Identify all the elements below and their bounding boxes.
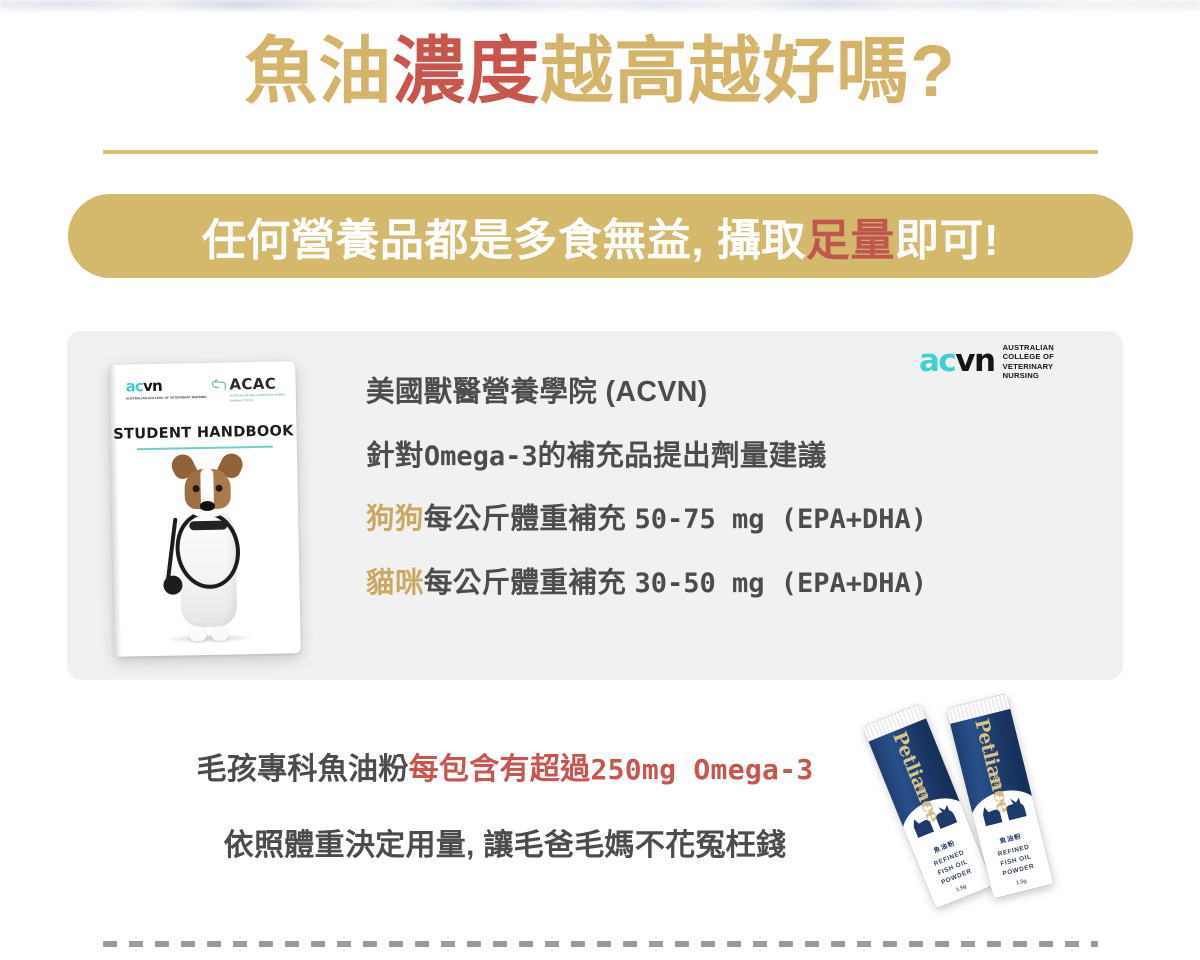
guideline-line-cat-dose: 貓咪每公斤體重補充 30-50 mg (EPA+DHA) (366, 569, 1066, 598)
statement-red-part: 每包含有超過 (409, 753, 591, 786)
book-acac-text: ACAC AUSTRALIAN AND COMPANION ANIMAL CHE… (229, 376, 286, 402)
book-acvn-vn: vn (143, 377, 162, 395)
book-header-logos: acvn AUSTRALIAN COLLEGE OF VETERINARY NU… (125, 376, 286, 413)
acvn-wordmark: acvn (919, 346, 995, 377)
book-acac-subtitle-2: CHENNAI | TOKYO (230, 398, 286, 402)
infographic-page: 魚油濃度越高越好嗎? 任何營養品都是多食無益, 攝取足量即可! acvn AUS… (0, 0, 1200, 960)
acvn-subtitle-line-3: VETERINARY (1003, 362, 1054, 371)
product-statement-line-2: 依照體重決定用量, 讓毛爸毛媽不花冤枉錢 (105, 831, 905, 861)
dog-nose (200, 501, 215, 511)
book-acac-logo: ACAC AUSTRALIAN AND COMPANION ANIMAL CHE… (210, 376, 286, 403)
product-sachets-photo: Petliance 毛孩專科 魚油粉 REFINED FISH OIL POWD… (893, 692, 1098, 907)
book-acvn-wordmark: acvn (125, 378, 206, 395)
guideline-seg-dog-label: 狗狗 (366, 503, 424, 535)
guideline-seg: 每公斤體重補充 (424, 567, 635, 599)
guideline-seg: 針對 (366, 440, 424, 472)
guideline-seg: 的補充品提出劑量建議 (538, 440, 827, 472)
book-title: STUDENT HANDBOOK (110, 423, 296, 443)
banner-part-1: 任何營養品都是多食無益, 攝取 (202, 216, 806, 265)
book-acvn-subtitle: AUSTRALIAN COLLEGE OF VETERINARY NURSING (126, 395, 207, 401)
book-acac-wordmark: ACAC (229, 376, 286, 392)
guideline-seg-cat-label: 貓咪 (366, 567, 424, 599)
statement-dark-part: 毛孩專科魚油粉 (197, 753, 409, 786)
guideline-seg: 美國獸醫營養學院 (ACVN) (366, 376, 708, 408)
dog-with-stethoscope-photo (144, 450, 272, 648)
dog-shadow (165, 633, 253, 644)
acvn-logo: acvn AUSTRALIAN COLLEGE OF VETERINARY NU… (919, 343, 1054, 380)
guideline-seg: 每公斤體重補充 (424, 503, 635, 535)
banner-text: 任何營養品都是多食無益, 攝取足量即可! (202, 204, 999, 268)
acvn-subtitle-line-1: AUSTRALIAN (1003, 343, 1054, 352)
acvn-wordmark-ac: ac (919, 343, 955, 379)
guideline-seg-omega3: Omega-3 (424, 441, 538, 472)
banner-accent: 足量 (806, 216, 895, 265)
highlight-banner: 任何營養品都是多食無益, 攝取足量即可! (68, 194, 1133, 278)
guideline-line-dog-dose: 狗狗每公斤體重補充 50-75 mg (EPA+DHA) (366, 505, 1066, 534)
title-part-2: 越高越好嗎? (540, 31, 956, 112)
student-handbook-cover: acvn AUSTRALIAN COLLEGE OF VETERINARY NU… (109, 361, 301, 657)
guideline-seg-cat-unit: (EPA+DHA) (764, 568, 927, 599)
dog-eye-left (193, 485, 200, 492)
banner-part-2: 即可! (895, 216, 999, 265)
acvn-subtitle: AUSTRALIAN COLLEGE OF VETERINARY NURSING (1003, 343, 1054, 380)
page-title: 魚油濃度越高越好嗎? (0, 32, 1200, 112)
product-statement: 毛孩專科魚油粉每包含有超過250mg Omega-3 依照體重決定用量, 讓毛爸… (105, 755, 905, 861)
guideline-seg-dog-value: 50-75 mg (634, 504, 764, 535)
guideline-line-acvn: 美國獸醫營養學院 (ACVN) (366, 378, 1066, 407)
book-acvn-ac: ac (125, 377, 143, 395)
top-photo-sliver (0, 0, 1200, 13)
acac-dog-icon (210, 378, 227, 397)
gold-divider-rule (103, 150, 1098, 154)
title-accent: 濃度 (392, 31, 540, 112)
title-part-1: 魚油 (244, 31, 392, 112)
bottom-dashed-divider (103, 941, 1098, 947)
dog-paw-left (189, 626, 206, 641)
dog-collar (189, 521, 227, 531)
product-statement-line-1: 毛孩專科魚油粉每包含有超過250mg Omega-3 (105, 755, 905, 785)
acvn-guideline-list: 美國獸醫營養學院 (ACVN) 針對Omega-3的補充品提出劑量建議 狗狗每公… (366, 378, 1066, 597)
acvn-wordmark-vn: vn (955, 343, 994, 379)
guideline-seg-dog-unit: (EPA+DHA) (764, 504, 927, 535)
statement-red-value: 250mg Omega-3 (590, 753, 813, 786)
guideline-seg-cat-value: 30-50 mg (634, 568, 764, 599)
dog-paw-right (211, 626, 228, 641)
book-acvn-logo: acvn AUSTRALIAN COLLEGE OF VETERINARY NU… (125, 378, 206, 401)
guideline-line-omega3: 針對Omega-3的補充品提出劑量建議 (366, 442, 1066, 471)
acvn-subtitle-line-2: COLLEGE OF (1003, 352, 1054, 361)
